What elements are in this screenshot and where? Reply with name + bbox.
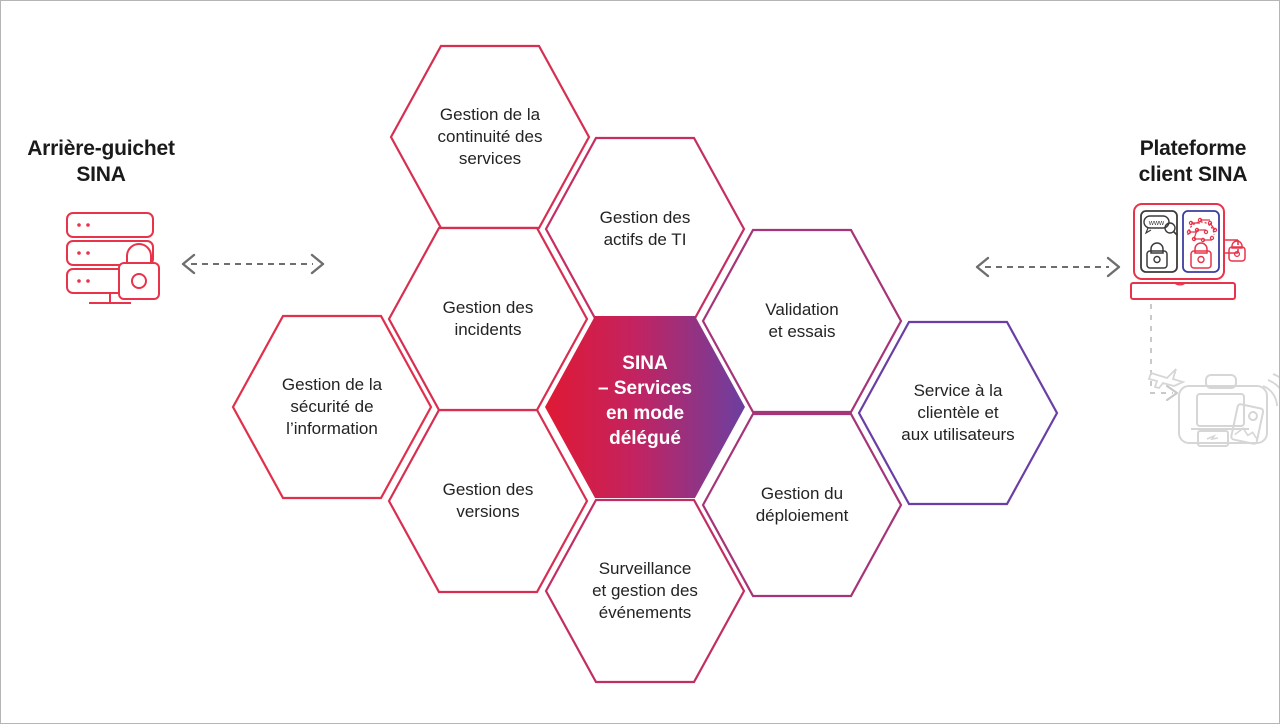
hexagon-versions[interactable]	[389, 410, 587, 592]
left-connector-arrow	[183, 255, 323, 273]
travel-briefcase-icon	[1149, 369, 1280, 446]
diagram-vector-layer: www	[1, 1, 1280, 724]
diagram-canvas: Arrière-guichet SINA Plateforme client S…	[0, 0, 1280, 724]
hexagon-actifs-ti[interactable]	[546, 138, 744, 320]
server-lock-icon	[67, 213, 159, 303]
hexagon-continuite[interactable]	[391, 46, 589, 228]
svg-text:www: www	[1148, 220, 1165, 227]
right-connector-arrow	[977, 258, 1119, 276]
hexagon-service-clientele[interactable]	[859, 322, 1057, 504]
laptop-security-icon: www	[1131, 204, 1245, 299]
